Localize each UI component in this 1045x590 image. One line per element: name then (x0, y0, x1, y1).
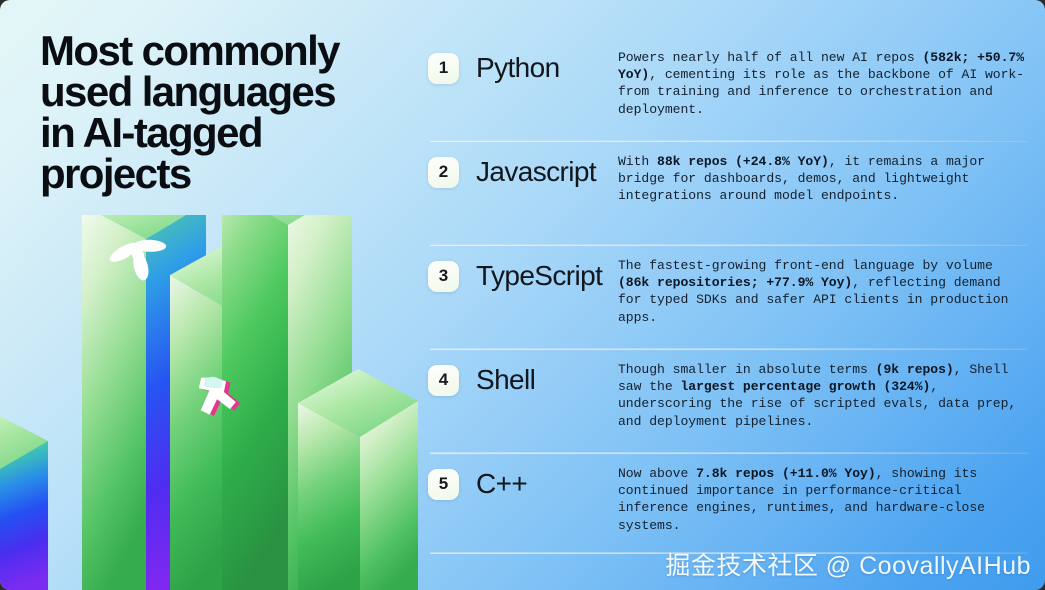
row-divider (430, 140, 1028, 142)
language-description: Though smaller in absolute terms (9k rep… (618, 352, 1028, 430)
rank-lead: 4 Shell (428, 352, 618, 396)
language-name: Python (476, 52, 560, 84)
language-description: With 88k repos (+24.8% YoY), it remains … (618, 144, 1028, 205)
infographic-canvas: Most commonly used languages in AI-tagge… (0, 0, 1045, 590)
ranking-list: 1 Python Powers nearly half of all new A… (420, 0, 1045, 590)
page-title: Most commonly used languages in AI-tagge… (40, 30, 385, 195)
left-panel: Most commonly used languages in AI-tagge… (0, 0, 420, 590)
bar-1 (0, 411, 48, 590)
language-name: Shell (476, 364, 535, 396)
watermark: 掘金技术社区 @ CoovallyAIHub (665, 546, 1031, 582)
language-name: TypeScript (476, 260, 602, 292)
language-description: Powers nearly half of all new AI repos (… (618, 40, 1028, 118)
rank-lead: 2 Javascript (428, 144, 618, 188)
list-item[interactable]: 4 Shell Though smaller in absolute terms… (428, 352, 1028, 456)
language-name: Javascript (476, 156, 596, 188)
list-item[interactable]: 3 TypeScript The fastest-growing front-e… (428, 248, 1028, 352)
rank-badge: 3 (428, 261, 459, 292)
rank-badge: 2 (428, 157, 459, 188)
list-item[interactable]: 5 C++ Now above 7.8k repos (+11.0% Yoy),… (428, 456, 1028, 560)
language-name: C++ (476, 468, 527, 500)
rank-badge: 5 (428, 469, 459, 500)
list-item[interactable]: 2 Javascript With 88k repos (+24.8% YoY)… (428, 144, 1028, 248)
bar-5 (298, 369, 418, 590)
row-divider (430, 348, 1028, 350)
language-description: The fastest-growing front-end language b… (618, 248, 1028, 326)
language-description: Now above 7.8k repos (+11.0% Yoy), showi… (618, 456, 1028, 534)
row-divider (430, 452, 1028, 454)
rank-lead: 1 Python (428, 40, 618, 84)
rank-lead: 5 C++ (428, 456, 618, 500)
3d-bar-chart-illustration (0, 215, 420, 590)
rank-badge: 1 (428, 53, 459, 84)
list-item[interactable]: 1 Python Powers nearly half of all new A… (428, 40, 1028, 144)
rank-lead: 3 TypeScript (428, 248, 618, 292)
rank-badge: 4 (428, 365, 459, 396)
row-divider (430, 244, 1028, 246)
